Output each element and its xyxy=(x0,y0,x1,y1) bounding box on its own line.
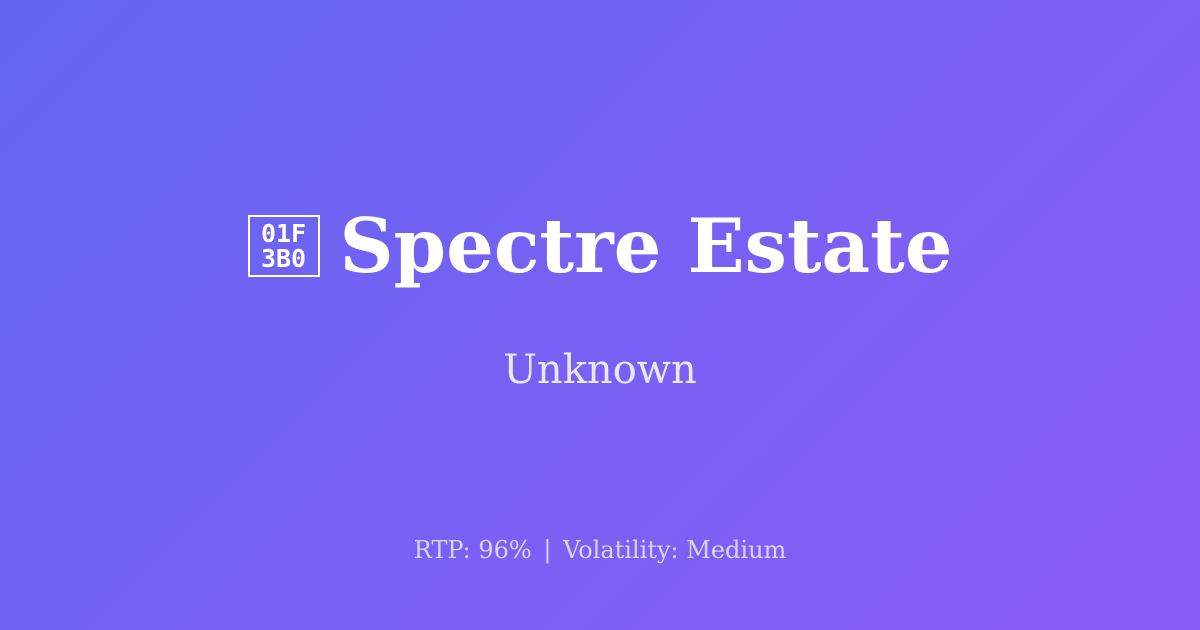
og-card: 01F 3B0 Spectre Estate Unknown RTP: 96% … xyxy=(0,0,1200,630)
tofu-codepoint-high: 01F xyxy=(261,221,306,247)
page-title: Spectre Estate xyxy=(340,207,953,286)
volatility-value: Medium xyxy=(686,536,786,564)
title-row: 01F 3B0 Spectre Estate xyxy=(248,207,953,286)
rtp-value: 96% xyxy=(478,536,531,564)
page-subtitle: Unknown xyxy=(503,347,697,393)
rtp-label: RTP: xyxy=(414,536,471,564)
meta-separator: | xyxy=(539,536,555,564)
slot-machine-icon: 01F 3B0 xyxy=(248,215,320,277)
game-meta-line: RTP: 96% | Volatility: Medium xyxy=(0,536,1200,564)
tofu-codepoint-low: 3B0 xyxy=(261,246,306,272)
volatility-label: Volatility: xyxy=(563,536,679,564)
